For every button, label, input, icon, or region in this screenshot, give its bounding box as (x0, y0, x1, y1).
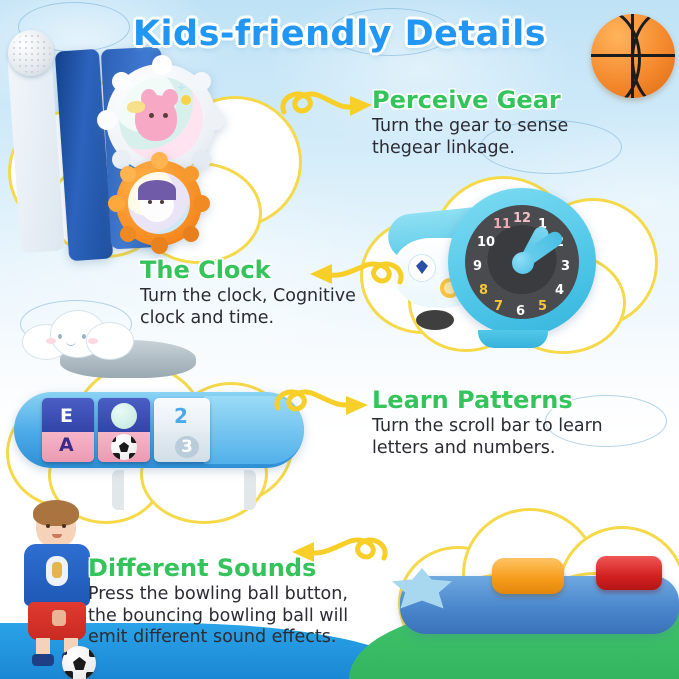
roller-label-bottom: A (59, 434, 74, 456)
clock-number: 10 (477, 235, 495, 250)
feature-body: Turn the gear to sense thegear linkage. (372, 116, 652, 159)
bowling-ball-icon (111, 403, 137, 429)
clock-number: 5 (538, 299, 547, 314)
red-button[interactable] (596, 556, 662, 590)
roller-label-bottom: 3 (175, 436, 199, 458)
orange-button[interactable] (492, 558, 564, 594)
feature-body-line: Turn the gear to sense (372, 116, 652, 138)
swirl-arrow-right (276, 72, 386, 138)
clock-number: 7 (494, 299, 503, 314)
feature-body-line: Turn the scroll bar to learn (372, 416, 662, 438)
page-title: Kids-friendly Details (0, 14, 679, 54)
gear-product-photo (10, 48, 280, 278)
swirl-arrow-left (288, 246, 408, 306)
soccer-ball-icon (111, 434, 137, 460)
clock-bezel[interactable]: 12 1 2 3 4 5 6 7 8 9 10 11 (448, 188, 596, 336)
roller-segment[interactable]: 2 3 (154, 398, 210, 462)
clock-center-cap (512, 252, 534, 274)
swirl-arrow-icon (276, 72, 386, 134)
smiling-cloud-icon (22, 310, 132, 358)
feature-body-line: emit different sound effects. (88, 627, 388, 649)
clock-number: 8 (479, 283, 488, 298)
feature-body: Press the bowling ball button, the bounc… (88, 584, 388, 649)
sound-buttons-product-photo (400, 520, 679, 650)
clock-product-photo: 12 1 2 3 4 5 6 7 8 9 10 11 (392, 182, 602, 347)
swirl-arrow-icon (288, 246, 408, 302)
roller-label-top: E (60, 405, 73, 427)
clock-number: 11 (493, 217, 511, 232)
feature-perceive-gear: Perceive Gear Turn the gear to sense the… (372, 88, 652, 159)
swirl-arrow-left (268, 524, 392, 584)
swirl-arrow-icon (268, 524, 392, 580)
poster-canvas: Kids-friendly Details (0, 0, 679, 679)
clock-number: 9 (473, 259, 482, 274)
swirl-arrow-icon (272, 378, 382, 434)
clock-number: 6 (516, 304, 525, 319)
gear-orange[interactable] (116, 160, 202, 246)
feature-body-line: letters and numbers. (372, 438, 662, 460)
roller-label-top: 2 (174, 404, 188, 428)
scroll-bar-product-photo: E A 2 3 (14, 378, 314, 486)
soccer-ball-icon (62, 646, 96, 679)
clock-number: 12 (513, 211, 531, 226)
feature-heading: Perceive Gear (372, 88, 652, 113)
swirl-arrow-right (272, 378, 382, 438)
roller-segment[interactable]: E A (42, 398, 94, 462)
clock-number: 3 (561, 259, 570, 274)
feature-heading: Learn Patterns (372, 388, 662, 413)
feature-learn-patterns: Learn Patterns Turn the scroll bar to le… (372, 388, 662, 459)
clock-number: 4 (555, 283, 564, 298)
feature-body: Turn the scroll bar to learn letters and… (372, 416, 662, 459)
clock-face: 12 1 2 3 4 5 6 7 8 9 10 11 (465, 205, 579, 319)
roller-segment[interactable] (98, 398, 150, 462)
feature-body-line: clock and time. (140, 308, 410, 330)
feature-body-line: the bouncing bowling ball will (88, 606, 388, 628)
feature-body-line: thegear linkage. (372, 138, 652, 160)
feature-body-line: Press the bowling ball button, (88, 584, 388, 606)
